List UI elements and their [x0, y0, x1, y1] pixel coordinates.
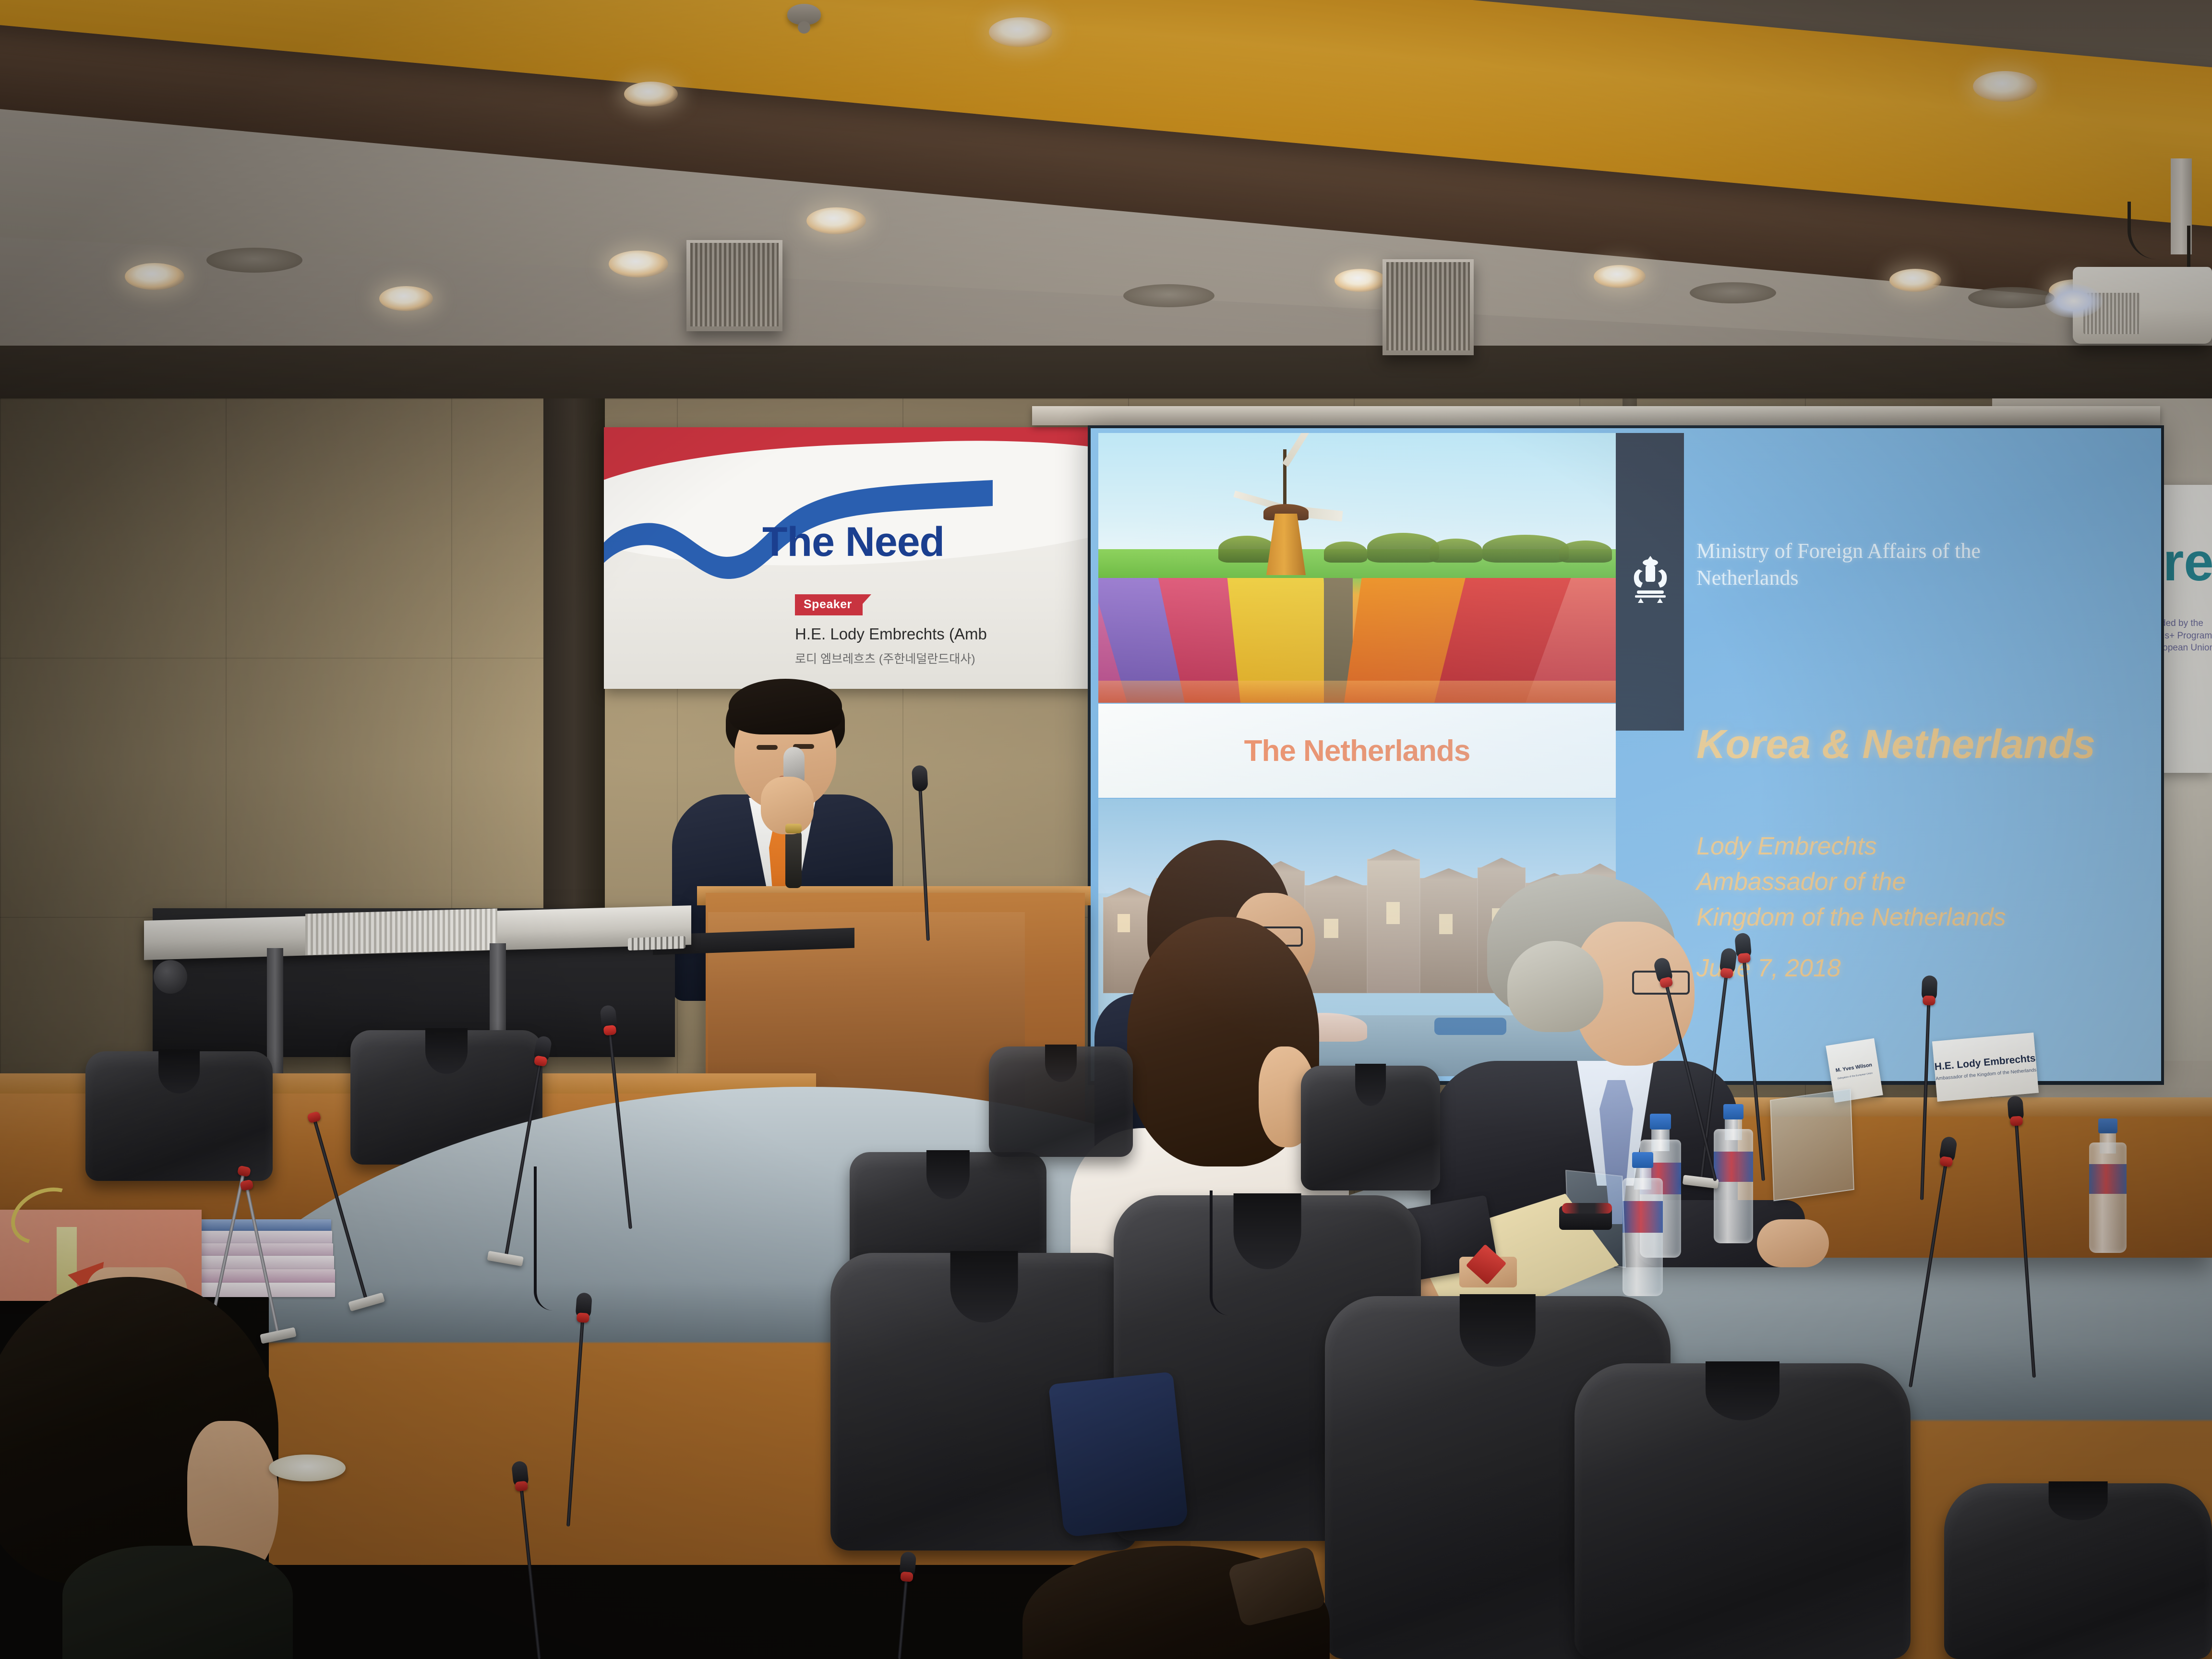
gooseneck-microphone[interactable] — [898, 1575, 909, 1659]
smoke-detector-icon — [787, 4, 821, 25]
water-bottle[interactable] — [2089, 1118, 2127, 1253]
slide-image-tulip-field — [1098, 433, 1616, 703]
treeline — [1098, 536, 1616, 563]
placard-name: M. Yves Wilson — [1835, 1061, 1873, 1073]
projector — [2073, 267, 2212, 344]
slide-caption-text: The Netherlands — [1244, 734, 1470, 768]
ceiling-downlight — [1889, 269, 1941, 292]
slide-title: Korea & Netherlands — [1696, 721, 2095, 768]
ceiling-downlight — [806, 207, 866, 234]
slide-presenter-name: Lody Embrechts — [1696, 829, 2006, 865]
ceiling-downlight — [989, 17, 1052, 47]
banner-title: The Need — [762, 518, 944, 566]
banner-speaker-name: H.E. Lody Embrechts (Amb — [795, 625, 987, 643]
ceiling-downlight — [1334, 269, 1386, 292]
av-console-controls[interactable] — [628, 936, 685, 950]
chair[interactable] — [85, 1051, 273, 1181]
conference-room-photo: The Need Speaker H.E. Lody Embrechts (Am… — [0, 0, 2212, 1659]
chair[interactable] — [1575, 1363, 1911, 1659]
ceiling-downlight — [125, 263, 184, 290]
slide-ministry-line: Ministry of Foreign Affairs of the Nethe… — [1696, 538, 2032, 592]
projector-lens-glow — [2045, 284, 2103, 318]
handbag — [1048, 1371, 1189, 1537]
slide-logo-bar — [1616, 433, 1684, 731]
ceiling-recess — [206, 248, 302, 273]
water-bottle[interactable] — [1623, 1152, 1663, 1296]
ceiling-downlight — [1973, 71, 2037, 102]
slide-caption-band: The Netherlands — [1098, 704, 1616, 798]
ceiling-recess — [1123, 284, 1214, 307]
banner-speaker-tag: Speaker — [795, 594, 863, 615]
banner-speaker-name-korean: 로디 엠브레흐츠 (주한네덜란드대사) — [795, 649, 975, 667]
audience-shoulders — [62, 1546, 293, 1659]
ceiling-downlight — [379, 286, 433, 311]
dutch-coat-of-arms-icon — [1626, 553, 1674, 615]
speaker-hair-top — [729, 679, 842, 734]
water-bottle[interactable] — [1714, 1104, 1753, 1243]
chair[interactable] — [989, 1046, 1133, 1157]
chair[interactable] — [1944, 1483, 2212, 1659]
ceiling-recess — [1690, 282, 1776, 303]
saucer-dish — [269, 1455, 346, 1481]
projection-screen-roller — [1032, 406, 2160, 425]
microphone-cable — [534, 1166, 577, 1310]
chair[interactable] — [1301, 1066, 1440, 1190]
ambassador-hair-side — [1507, 941, 1603, 1032]
placard-title: Delegation of the European Union — [1838, 1072, 1873, 1080]
eyeglasses-icon — [1562, 1203, 1612, 1214]
acrylic-display-stand — [1770, 1089, 1854, 1202]
ceiling-speaker-icon — [686, 240, 782, 331]
ceiling-downlight — [609, 251, 668, 277]
tulip-rows — [1098, 576, 1616, 703]
person-audience-foreground-left — [0, 1277, 307, 1659]
person-audience-foreground-right — [1022, 1541, 1368, 1659]
ceiling-downlight — [1594, 265, 1646, 288]
ceiling-speaker-icon — [1382, 259, 1474, 355]
ceiling-downlight — [624, 82, 678, 107]
av-console-knob[interactable] — [154, 960, 187, 994]
microphone-cable — [1210, 1190, 1267, 1315]
event-banner: The Need Speaker H.E. Lody Embrechts (Am… — [604, 427, 1127, 689]
ceiling-recess — [1968, 287, 2055, 308]
ambassador-hand — [1757, 1219, 1829, 1267]
name-placard: H.E. Lody Embrechts Ambassador of the Ki… — [1932, 1033, 2039, 1102]
av-console-ribbed-panel — [305, 908, 497, 955]
